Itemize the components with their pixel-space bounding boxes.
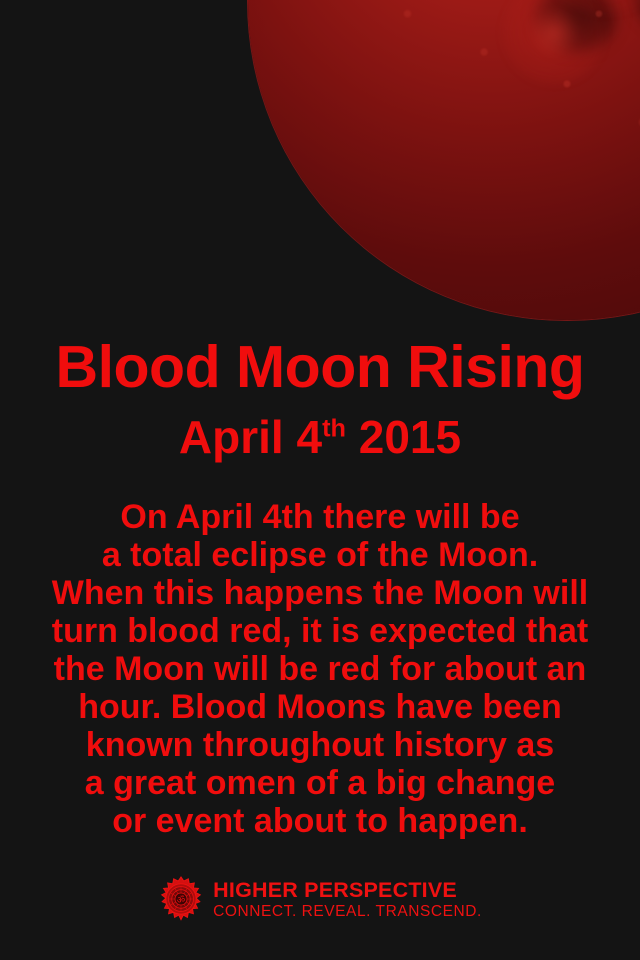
brand-lockup: HIGHER PERSPECTIVE CONNECT. REVEAL. TRAN… [213,879,482,919]
brand-tagline: CONNECT. REVEAL. TRANSCEND. [213,904,482,920]
event-date-ordinal: th [322,415,346,443]
event-date-year: 2015 [346,411,461,463]
footer-branding: ॐ HIGHER PERSPECTIVE CONNECT. REVEAL. TR… [0,876,640,922]
brand-name: HIGHER PERSPECTIVE [213,880,482,902]
poster-content: Blood Moon Rising April 4th 2015 On Apri… [0,0,640,960]
page-title: Blood Moon Rising [0,338,640,397]
body-text: On April 4th there will be a total eclip… [0,498,640,840]
body-line: a total eclipse of the Moon. [0,536,640,574]
event-date-prefix: April 4 [179,411,322,463]
body-line: the Moon will be red for about an [0,650,640,688]
body-line: or event about to happen. [0,802,640,840]
event-date: April 4th 2015 [0,414,640,460]
body-line: a great omen of a big change [0,764,640,802]
mandala-om-icon: ॐ [158,876,204,922]
body-line: When this happens the Moon will [0,574,640,612]
blood-moon-poster: Blood Moon Rising April 4th 2015 On Apri… [0,0,640,960]
body-line: On April 4th there will be [0,498,640,536]
body-line: known throughout history as [0,726,640,764]
svg-text:ॐ: ॐ [177,895,185,906]
body-line: hour. Blood Moons have been [0,688,640,726]
body-line: turn blood red, it is expected that [0,612,640,650]
